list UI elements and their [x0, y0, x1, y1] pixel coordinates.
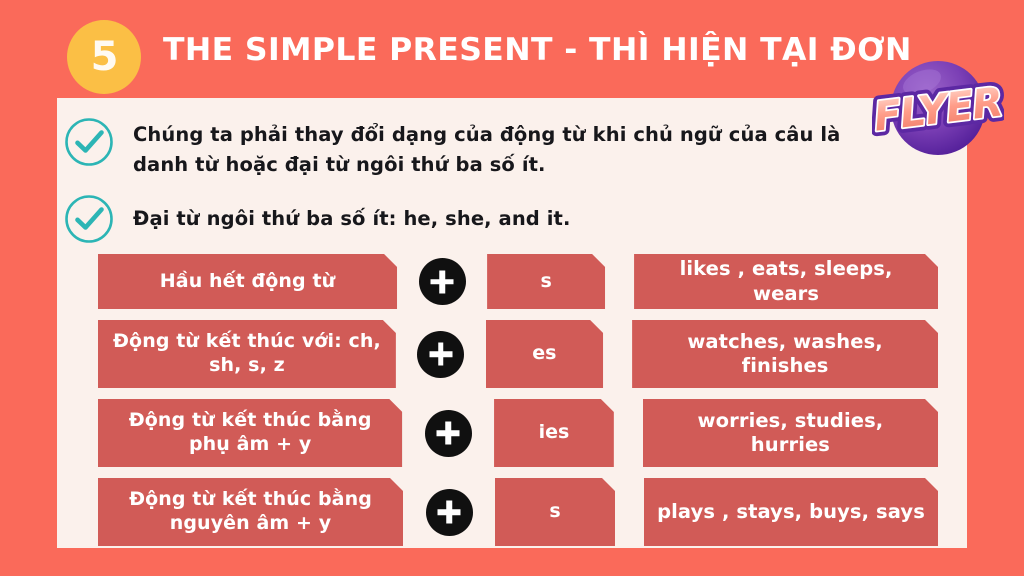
list-item: Đại từ ngôi thứ ba số ít: he, she, and i… [57, 193, 967, 245]
suffix-label: ies [494, 399, 614, 467]
table-row: Động từ kết thúc bằng phụ âm + y ies wor… [98, 399, 938, 467]
check-circle-icon [63, 116, 115, 168]
plus-operator [396, 320, 486, 388]
rule-label: Động từ kết thúc bằng nguyên âm + y [98, 478, 403, 546]
page-title: THE SIMPLE PRESENT - THÌ HIỆN TẠI ĐƠN [163, 33, 912, 68]
example-label: worries, studies, hurries [643, 399, 938, 467]
plus-icon [426, 489, 473, 536]
bullet-text: Chúng ta phải thay đổi dạng của động từ … [133, 116, 893, 179]
plus-operator [397, 254, 487, 309]
plus-operator [403, 478, 495, 546]
flyer-logo: FLYER FLYER FLYER [872, 52, 1004, 164]
example-label: likes , eats, sleeps, wears [634, 254, 938, 309]
suffix-label: s [495, 478, 615, 546]
slide: 5 THE SIMPLE PRESENT - THÌ HIỆN TẠI ĐƠN [0, 0, 1024, 576]
example-label: watches, washes, finishes [632, 320, 938, 388]
content-card: Chúng ta phải thay đổi dạng của động từ … [57, 98, 967, 548]
check-circle-icon [63, 193, 115, 245]
rule-label: Động từ kết thúc bằng phụ âm + y [98, 399, 402, 467]
table-row: Hầu hết động từ s likes , eats, sleeps, … [98, 254, 938, 309]
plus-icon [425, 410, 472, 457]
svg-text:FLYER: FLYER [872, 79, 1004, 140]
example-label: plays , stays, buys, says [644, 478, 938, 546]
rule-label: Động từ kết thúc với: ch, sh, s, z [98, 320, 396, 388]
rules-table: Hầu hết động từ s likes , eats, sleeps, … [98, 254, 938, 557]
bullet-text: Đại từ ngôi thứ ba số ít: he, she, and i… [133, 193, 570, 234]
table-row: Động từ kết thúc với: ch, sh, s, z es wa… [98, 320, 938, 388]
suffix-label: s [487, 254, 605, 309]
plus-icon [419, 258, 466, 305]
list-item: Chúng ta phải thay đổi dạng của động từ … [57, 116, 967, 179]
bullet-list: Chúng ta phải thay đổi dạng của động từ … [57, 116, 967, 245]
plus-icon [417, 331, 464, 378]
plus-operator [402, 399, 494, 467]
step-number-badge: 5 [67, 20, 141, 94]
suffix-label: es [486, 320, 604, 388]
table-row: Động từ kết thúc bằng nguyên âm + y s pl… [98, 478, 938, 546]
rule-label: Hầu hết động từ [98, 254, 397, 309]
slide-header: 5 THE SIMPLE PRESENT - THÌ HIỆN TẠI ĐƠN [0, 0, 1024, 98]
